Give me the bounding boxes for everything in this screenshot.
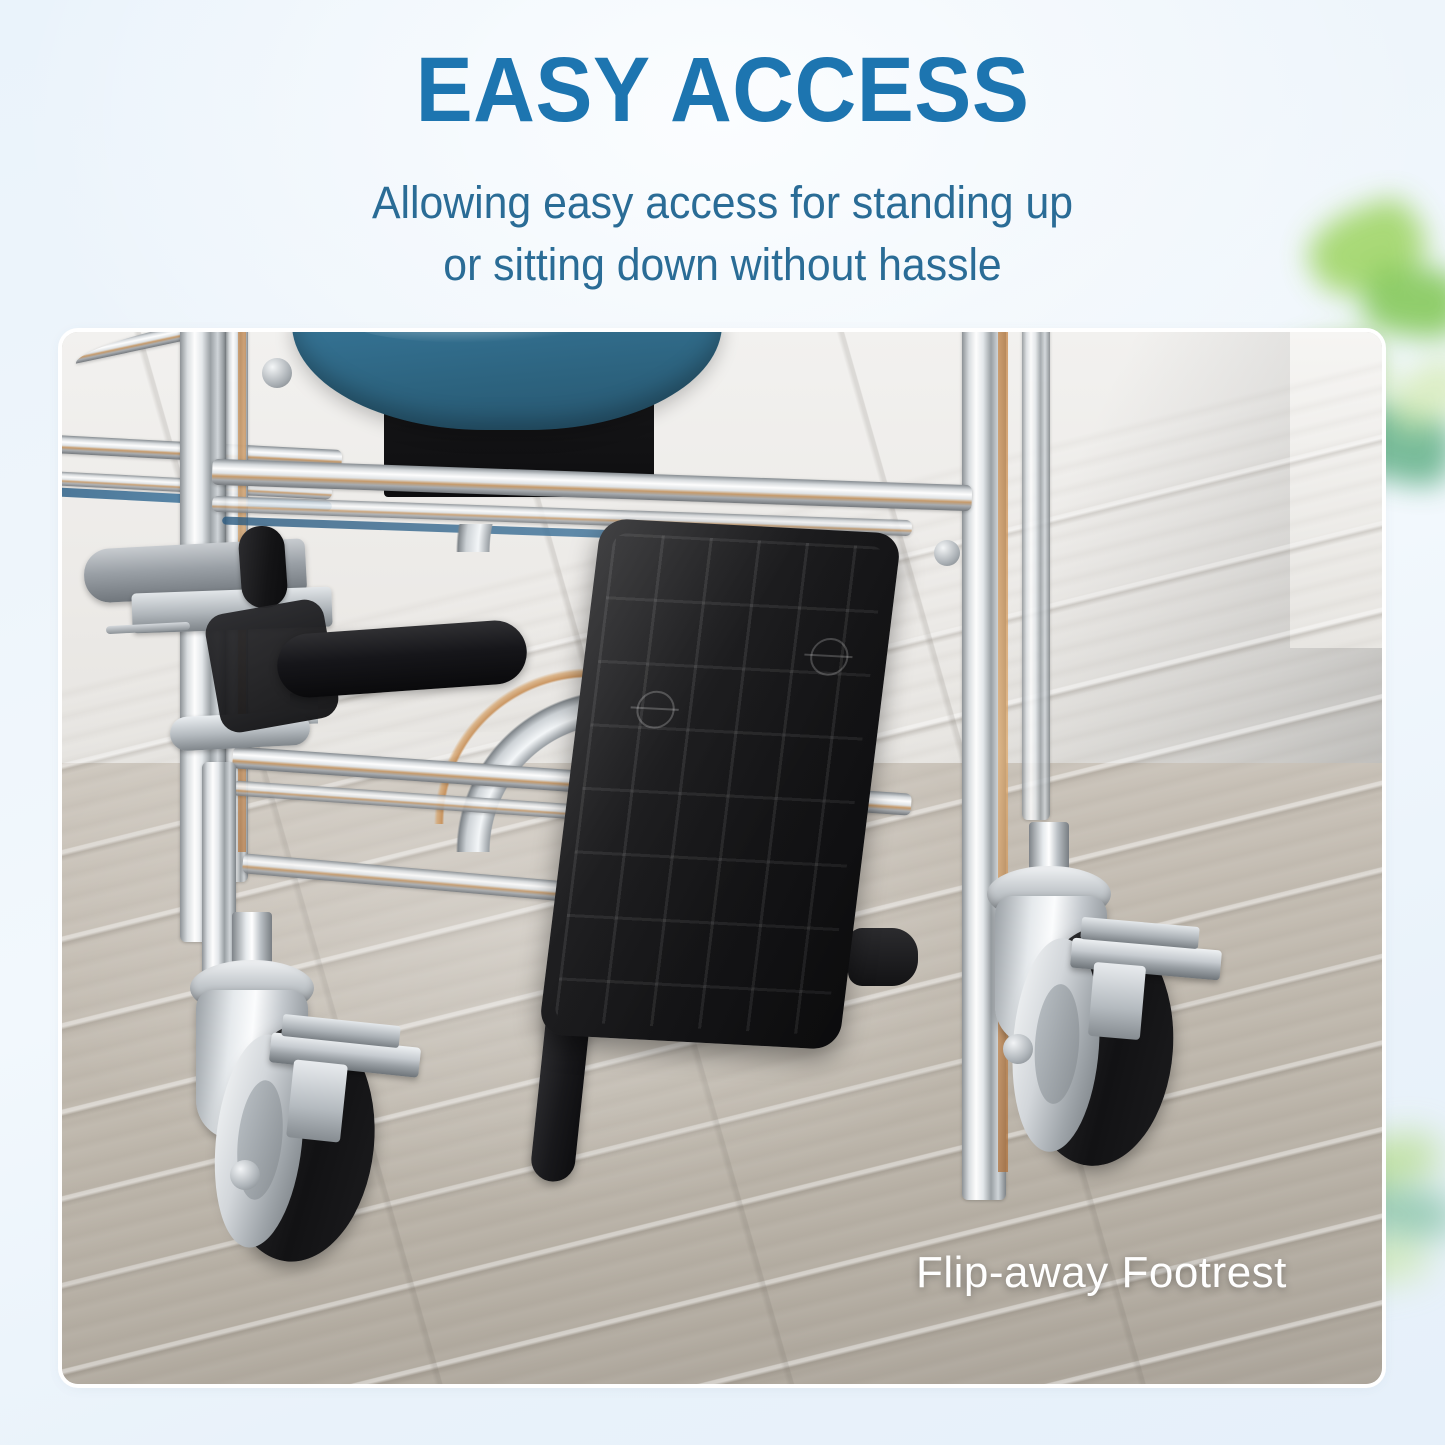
marketing-banner: EASY ACCESS Allowing easy access for sta…: [0, 0, 1445, 1445]
frame-post-right-rear: [1022, 332, 1050, 820]
armrest-knob: [237, 524, 289, 609]
page-subtitle: Allowing easy access for standing up or …: [36, 172, 1409, 296]
caster-axle-bolt: [230, 1160, 260, 1190]
subtitle-line-1: Allowing easy access for standing up: [36, 172, 1409, 234]
bolt-head: [262, 358, 292, 388]
leaf-shape: [1377, 350, 1445, 440]
product-photo: Flip-away Footrest: [62, 332, 1382, 1384]
bolt-head-right: [934, 540, 960, 566]
footrest-hinge: [848, 928, 918, 986]
photo-caption: Flip-away Footrest: [916, 1248, 1287, 1298]
flip-away-footrest[interactable]: [538, 518, 902, 1050]
caster-brake-stem: [286, 1059, 348, 1142]
subtitle-line-2: or sitting down without hassle: [36, 234, 1409, 296]
caster-brake-stem: [1088, 962, 1146, 1040]
footrest-sheen: [538, 518, 902, 1050]
seat-highlight: [352, 332, 601, 343]
frame-leg-left: [202, 762, 236, 992]
page-title: EASY ACCESS: [51, 44, 1395, 136]
caster-axle-bolt: [1003, 1034, 1033, 1064]
